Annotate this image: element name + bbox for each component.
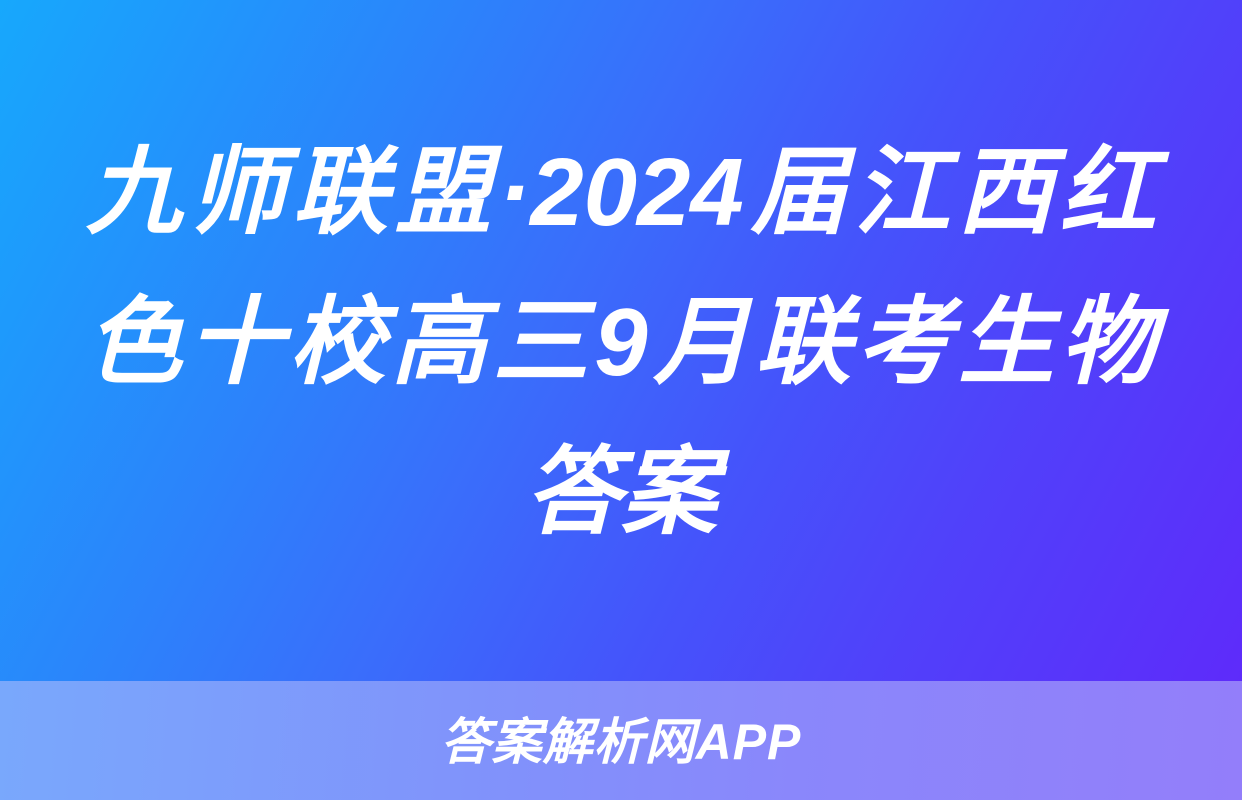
answer-poster: 九师联盟·2024届江西红 色十校高三9月联考生物 答案 答案解析网APP: [0, 0, 1242, 800]
poster-title-block: 九师联盟·2024届江西红 色十校高三9月联考生物 答案: [86, 118, 1156, 568]
watermark-band: 答案解析网APP: [0, 681, 1242, 800]
page-title-line-1: 九师联盟·2024届江西红: [86, 118, 1156, 268]
page-title-line-3: 答案: [86, 418, 1156, 568]
poster-hero-banner: 九师联盟·2024届江西红 色十校高三9月联考生物 答案: [0, 0, 1242, 681]
page-title-line-2: 色十校高三9月联考生物: [86, 268, 1156, 418]
watermark-text: 答案解析网APP: [441, 717, 802, 767]
